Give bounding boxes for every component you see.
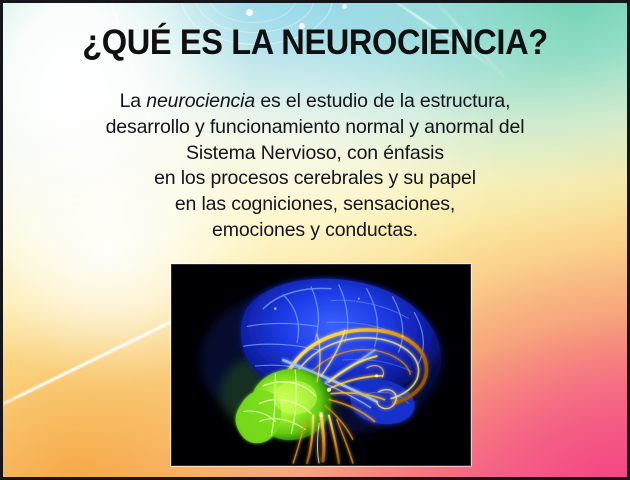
body-line-4: en los procesos cerebrales y su papel	[21, 166, 609, 192]
slide-body-text: La neurociencia es el estudio de la estr…	[21, 89, 609, 244]
slide-content: ¿QUÉ ES LA NEUROCIENCIA? La neurociencia…	[3, 3, 627, 477]
slide-title: ¿QUÉ ES LA NEUROCIENCIA?	[25, 25, 605, 60]
brain-illustration	[171, 264, 471, 466]
body-line-3: Sistema Nervioso, con énfasis	[21, 141, 609, 167]
body-line-6: emociones y conductas.	[21, 218, 609, 244]
presentation-slide: ¿QUÉ ES LA NEUROCIENCIA? La neurociencia…	[0, 0, 630, 480]
body-line-1: La neurociencia es el estudio de la estr…	[21, 89, 609, 115]
body-line-2: desarrollo y funcionamiento normal y ano…	[21, 115, 609, 141]
emphasis-neurociencia: neurociencia	[146, 90, 255, 112]
brain-illustration-graphic	[172, 265, 470, 465]
body-line-5: en las cogniciones, sensaciones,	[21, 192, 609, 218]
